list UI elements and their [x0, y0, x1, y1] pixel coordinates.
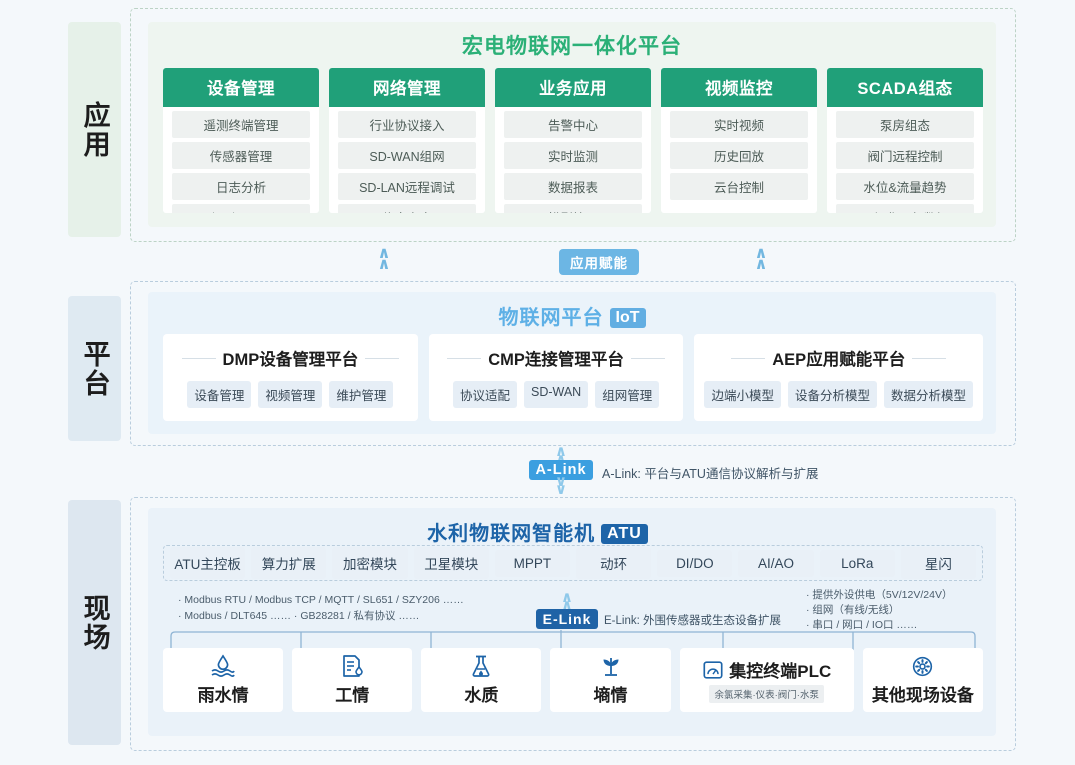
chevron-up-icon: ∧∧: [750, 248, 772, 272]
app-column-network-management[interactable]: 网络管理 行业协议接入 SD-WAN组网 SD-LAN远程调试 信息安全: [329, 68, 485, 213]
field-device-row: 雨水情 工情: [163, 648, 983, 712]
rail-field-label: 现场: [79, 594, 109, 652]
platform-field-connector: ∧∧ A-Link A-Link: 平台与ATU通信协议解析与扩展 ∨∨: [130, 448, 1014, 492]
rule-right: [631, 358, 665, 359]
device-engineering[interactable]: 工情: [292, 648, 412, 712]
platform-chip[interactable]: 组网管理: [595, 381, 659, 408]
field-title: 水利物联网智能机ATU: [0, 517, 1075, 546]
device-sublabel: 余氯采集·仪表·阀门·水泵: [709, 685, 824, 703]
application-title: 宏电物联网一体化平台: [148, 30, 996, 60]
device-soil-moisture[interactable]: 墒情: [550, 648, 670, 712]
rail-application-label: 应用: [79, 101, 109, 159]
platform-column-header: DMP设备管理平台: [173, 346, 408, 370]
rule-left: [182, 358, 216, 359]
platform-title-text: 物联网平台: [499, 307, 604, 329]
field-title-text: 水利物联网智能机: [427, 523, 595, 545]
device-water-quality[interactable]: 水质: [421, 648, 541, 712]
app-item[interactable]: 云台控制: [670, 173, 808, 200]
platform-column-header-text: AEP应用赋能平台: [772, 346, 905, 370]
platform-column-chips: 边端小模型 设备分析模型 数据分析模型: [704, 381, 973, 408]
app-item[interactable]: 行业协议接入: [338, 111, 476, 138]
gear-device-icon: [911, 655, 934, 678]
atu-module[interactable]: 卫星模块: [414, 547, 489, 579]
atu-module[interactable]: 动环: [576, 547, 651, 579]
device-rain-water[interactable]: 雨水情: [163, 648, 283, 712]
atu-module[interactable]: LoRa: [820, 550, 895, 577]
application-columns: 设备管理 遥测终端管理 传感器管理 日志分析 动环与MPPT 网络管理 行业协议…: [163, 68, 983, 213]
app-item[interactable]: 遥测终端管理: [172, 111, 310, 138]
device-label: 水质: [464, 681, 498, 706]
app-column-video-surveillance[interactable]: 视频监控 实时视频 历史回放 云台控制: [661, 68, 817, 213]
field-protocol-note-line: · Modbus / DLT645 …… · GB28281 / 私有协议 ……: [178, 608, 464, 624]
rail-platform: 平台: [68, 296, 121, 441]
atu-module[interactable]: MPPT: [495, 550, 570, 577]
e-link-tag: E-Link: [536, 609, 598, 629]
device-plc-terminal[interactable]: 集控终端PLC 余氯采集·仪表·阀门·水泵: [680, 648, 854, 712]
app-column-items: 遥测终端管理 传感器管理 日志分析 动环与MPPT: [163, 107, 319, 213]
plc-terminal-icon: [702, 659, 724, 681]
app-item[interactable]: 阀门远程控制: [836, 142, 974, 169]
device-label: 工情: [335, 681, 369, 706]
platform-chip[interactable]: 协议适配: [453, 381, 517, 408]
platform-column-dmp[interactable]: DMP设备管理平台 设备管理 视频管理 维护管理: [163, 334, 418, 421]
platform-chip[interactable]: SD-WAN: [524, 381, 588, 408]
app-column-header: 设备管理: [163, 68, 319, 107]
app-item[interactable]: 传感器管理: [172, 142, 310, 169]
app-column-header: 视频监控: [661, 68, 817, 107]
application-platform-connector: ∧∧ 应用赋能 ∧∧: [130, 246, 1014, 278]
app-column-items: 行业协议接入 SD-WAN组网 SD-LAN远程调试 信息安全: [329, 107, 485, 213]
iot-tag: IoT: [610, 308, 646, 328]
device-plc-header: 集控终端PLC: [702, 657, 831, 682]
signal-wave-up-icon: ∧∧: [557, 594, 577, 610]
app-item[interactable]: SD-LAN远程调试: [338, 173, 476, 200]
app-item[interactable]: 数据报表: [504, 173, 642, 200]
app-item[interactable]: 可视化运行数据: [836, 204, 974, 213]
a-link-description: A-Link: 平台与ATU通信协议解析与扩展: [602, 463, 818, 482]
app-item[interactable]: 实时视频: [670, 111, 808, 138]
app-column-header: 业务应用: [495, 68, 651, 107]
app-item[interactable]: 历史回放: [670, 142, 808, 169]
rail-platform-label: 平台: [79, 340, 109, 398]
atu-module[interactable]: ATU主控板: [170, 547, 245, 579]
field-capability-notes: · 提供外设供电（5V/12V/24V） · 组网（有线/无线） · 串口 / …: [806, 588, 952, 633]
platform-chip[interactable]: 设备管理: [187, 381, 251, 408]
app-item[interactable]: 实时监测: [504, 142, 642, 169]
signal-wave-down-icon: ∨∨: [551, 478, 571, 494]
app-item[interactable]: 信息安全: [338, 204, 476, 213]
platform-column-chips: 设备管理 视频管理 维护管理: [173, 381, 408, 408]
device-label: 墒情: [594, 681, 628, 706]
app-column-header: SCADA组态: [827, 68, 983, 107]
atu-module[interactable]: 加密模块: [332, 547, 407, 579]
app-item[interactable]: 泵房组态: [836, 111, 974, 138]
app-item[interactable]: SD-WAN组网: [338, 142, 476, 169]
platform-chip[interactable]: 维护管理: [329, 381, 393, 408]
field-capability-note-line: · 组网（有线/无线）: [806, 603, 952, 618]
application-enablement-tag: 应用赋能: [559, 249, 639, 275]
rule-left: [447, 358, 481, 359]
app-column-header: 网络管理: [329, 68, 485, 107]
rail-application: 应用: [68, 22, 121, 237]
chevron-up-icon: ∧∧: [373, 248, 395, 272]
field-protocol-notes: · Modbus RTU / Modbus TCP / MQTT / SL651…: [178, 592, 464, 624]
app-item[interactable]: 动环与MPPT: [172, 204, 310, 213]
atu-module[interactable]: DI/DO: [657, 550, 732, 577]
e-link-description: E-Link: 外围传感器或生态设备扩展: [604, 612, 781, 628]
platform-column-cmp[interactable]: CMP连接管理平台 协议适配 SD-WAN 组网管理: [429, 334, 684, 421]
app-item[interactable]: 模型管理: [504, 204, 642, 213]
device-label: 集控终端PLC: [729, 657, 831, 682]
device-other-field-equipment[interactable]: 其他现场设备: [863, 648, 983, 712]
architecture-diagram: 应用 平台 现场 宏电物联网一体化平台 设备管理 遥测终端管理 传感器管理 日志…: [0, 0, 1075, 765]
platform-title: 物联网平台IoT: [148, 301, 996, 330]
app-column-items: 告警中心 实时监测 数据报表 模型管理: [495, 107, 651, 213]
app-item[interactable]: 告警中心: [504, 111, 642, 138]
platform-columns: DMP设备管理平台 设备管理 视频管理 维护管理 CMP连接管理平台 协议适配 …: [163, 334, 983, 421]
app-column-device-management[interactable]: 设备管理 遥测终端管理 传感器管理 日志分析 动环与MPPT: [163, 68, 319, 213]
platform-column-header: AEP应用赋能平台: [704, 346, 973, 370]
app-column-items: 实时视频 历史回放 云台控制: [661, 107, 817, 200]
platform-chip[interactable]: 数据分析模型: [884, 381, 973, 408]
atu-tag: ATU: [601, 524, 648, 544]
field-capability-note-line: · 提供外设供电（5V/12V/24V）: [806, 588, 952, 603]
rain-water-icon: [210, 654, 236, 678]
soil-moisture-plant-icon: [599, 654, 623, 678]
rule-left: [731, 358, 765, 359]
platform-column-header: CMP连接管理平台: [439, 346, 674, 370]
atu-module[interactable]: 算力扩展: [251, 547, 326, 579]
platform-column-aep[interactable]: AEP应用赋能平台 边端小模型 设备分析模型 数据分析模型: [694, 334, 983, 421]
atu-module[interactable]: 星闪: [901, 547, 976, 579]
platform-column-header-text: DMP设备管理平台: [223, 346, 359, 370]
engineering-report-icon: [340, 654, 364, 678]
platform-chip[interactable]: 设备分析模型: [788, 381, 877, 408]
platform-chip[interactable]: 视频管理: [258, 381, 322, 408]
field-protocol-note-line: · Modbus RTU / Modbus TCP / MQTT / SL651…: [178, 592, 464, 608]
app-item[interactable]: 日志分析: [172, 173, 310, 200]
app-column-scada[interactable]: SCADA组态 泵房组态 阀门远程控制 水位&流量趋势 可视化运行数据: [827, 68, 983, 213]
platform-column-header-text: CMP连接管理平台: [488, 346, 624, 370]
device-label: 其他现场设备: [872, 681, 974, 706]
rule-right: [912, 358, 946, 359]
platform-chip[interactable]: 边端小模型: [704, 381, 781, 408]
atu-module[interactable]: AI/AO: [738, 550, 813, 577]
atu-module-row: ATU主控板 算力扩展 加密模块 卫星模块 MPPT 动环 DI/DO AI/A…: [163, 545, 983, 581]
rule-right: [365, 358, 399, 359]
device-label: 雨水情: [198, 681, 249, 706]
app-column-items: 泵房组态 阀门远程控制 水位&流量趋势 可视化运行数据: [827, 107, 983, 213]
platform-column-chips: 协议适配 SD-WAN 组网管理: [439, 381, 674, 408]
app-column-business-application[interactable]: 业务应用 告警中心 实时监测 数据报表 模型管理: [495, 68, 651, 213]
app-item[interactable]: 水位&流量趋势: [836, 173, 974, 200]
water-quality-flask-icon: [469, 654, 493, 678]
